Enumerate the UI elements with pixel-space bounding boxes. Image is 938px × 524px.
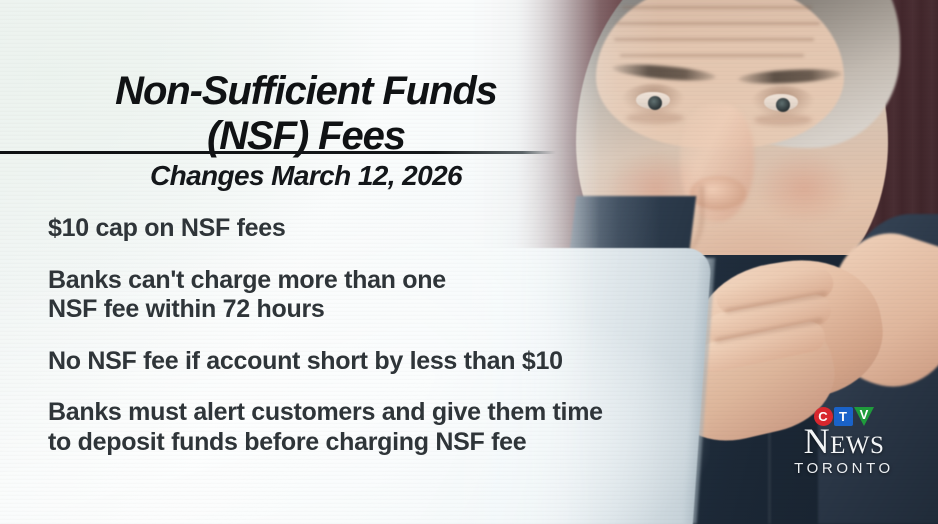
bullet-list: $10 cap on NSF fees Banks can't charge m… [48, 214, 768, 457]
list-item: Banks must alert customers and give them… [48, 398, 768, 457]
ctv-c-circle-icon: C [814, 407, 833, 426]
ctv-v-triangle-icon: V [854, 407, 875, 426]
station-city: TORONTO [770, 460, 918, 477]
ctv-t-square-icon: T [834, 407, 853, 426]
news-graphic-screen: Non-Sufficient Funds (NSF) Fees Changes … [0, 0, 938, 524]
ctv-wordmark: C T V [770, 406, 918, 426]
title-divider [0, 151, 556, 154]
title-line-1: Non-Sufficient Funds [0, 69, 612, 114]
list-item: No NSF fee if account short by less than… [48, 347, 768, 377]
page-title: Non-Sufficient Funds (NSF) Fees [0, 69, 612, 159]
news-wordmark: News [770, 424, 918, 459]
subject-cheek-right [756, 150, 852, 226]
list-item: Banks can't charge more than one NSF fee… [48, 266, 768, 325]
subject-iris-right [776, 98, 790, 112]
station-logo: C T V News TORONTO [770, 406, 918, 477]
list-item: $10 cap on NSF fees [48, 214, 768, 244]
subject-eyebag-right [754, 114, 812, 126]
subtitle: Changes March 12, 2026 [0, 160, 612, 192]
